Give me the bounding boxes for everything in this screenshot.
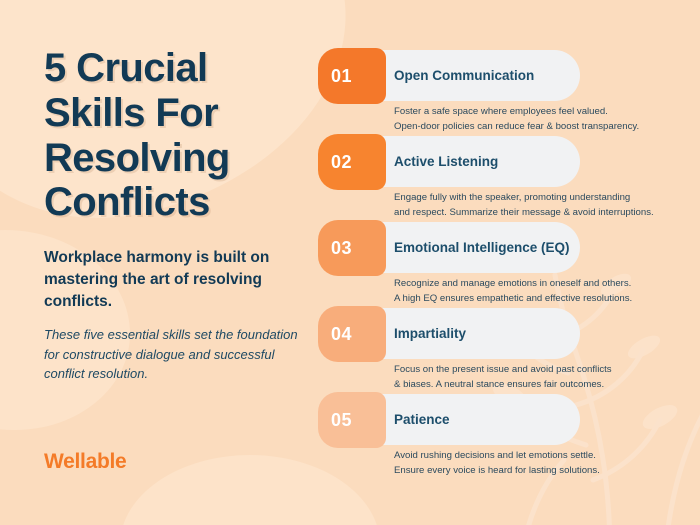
skill-title: Open Communication bbox=[394, 50, 534, 101]
skill-number-badge: 02 bbox=[318, 134, 386, 190]
page-title: 5 Crucial Skills For Resolving Conflicts bbox=[44, 46, 310, 225]
headline-line-4: Conflicts bbox=[44, 180, 210, 224]
skill-description: Engage fully with the speaker, promoting… bbox=[394, 190, 684, 220]
skill-title: Emotional Intelligence (EQ) bbox=[394, 222, 570, 273]
skill-title: Active Listening bbox=[394, 136, 498, 187]
subheadline: Workplace harmony is built on mastering … bbox=[44, 247, 310, 313]
brand-logo[interactable]: Wellable bbox=[44, 450, 126, 474]
skill-description: Foster a safe space where employees feel… bbox=[394, 104, 684, 134]
intro-note: These five essential skills set the foun… bbox=[44, 325, 310, 384]
skills-list: 01Open CommunicationFoster a safe space … bbox=[318, 50, 678, 480]
skill-number: 05 bbox=[331, 410, 352, 431]
headline-line-3: Resolving bbox=[44, 136, 230, 180]
skill-number-badge: 05 bbox=[318, 392, 386, 448]
skill-description: Focus on the present issue and avoid pas… bbox=[394, 362, 684, 392]
skill-description: Recognize and manage emotions in oneself… bbox=[394, 276, 684, 306]
skill-item: 02Active ListeningEngage fully with the … bbox=[318, 136, 678, 222]
left-text-column: 5 Crucial Skills For Resolving Conflicts… bbox=[44, 46, 310, 384]
skill-number: 03 bbox=[331, 238, 352, 259]
skill-number: 01 bbox=[331, 66, 352, 87]
skill-title: Impartiality bbox=[394, 308, 466, 359]
skill-number: 02 bbox=[331, 152, 352, 173]
skill-number-badge: 04 bbox=[318, 306, 386, 362]
skill-item: 03Emotional Intelligence (EQ)Recognize a… bbox=[318, 222, 678, 308]
skill-item: 04ImpartialityFocus on the present issue… bbox=[318, 308, 678, 394]
skill-description: Avoid rushing decisions and let emotions… bbox=[394, 448, 684, 478]
skill-number-badge: 01 bbox=[318, 48, 386, 104]
skill-number-badge: 03 bbox=[318, 220, 386, 276]
skill-number: 04 bbox=[331, 324, 352, 345]
infographic-canvas: 5 Crucial Skills For Resolving Conflicts… bbox=[0, 0, 700, 525]
headline-line-2: Skills For bbox=[44, 91, 218, 135]
skill-title: Patience bbox=[394, 394, 450, 445]
skill-item: 01Open CommunicationFoster a safe space … bbox=[318, 50, 678, 136]
headline-line-1: 5 Crucial bbox=[44, 46, 208, 90]
skill-item: 05PatienceAvoid rushing decisions and le… bbox=[318, 394, 678, 480]
